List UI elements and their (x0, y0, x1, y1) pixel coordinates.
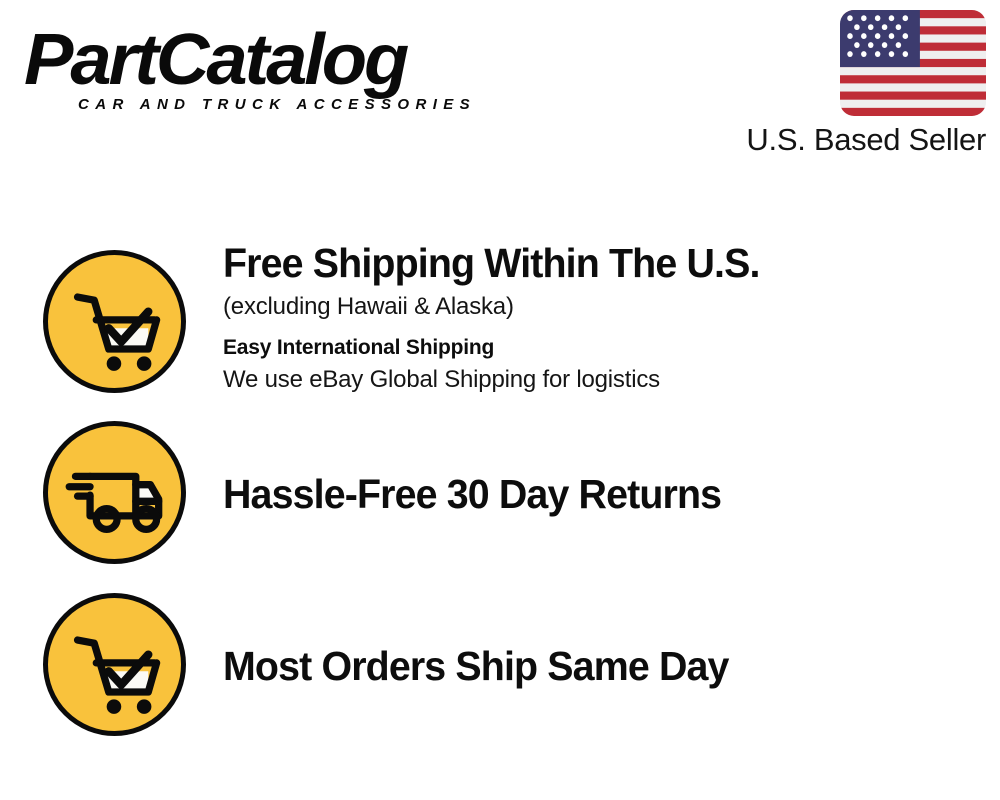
us-flag-icon (840, 10, 986, 116)
us-based-seller-block: U.S. Based Seller (686, 8, 986, 160)
feature-subhead: Easy International Shipping (223, 332, 990, 363)
feature-subline: (excluding Hawaii & Alaska) (223, 290, 990, 323)
cart-check-icon (43, 250, 186, 393)
promo-banner: PartCatalog CAR AND TRUCK ACCESSORIES (0, 0, 1000, 800)
feature-row: Hassle-Free 30 Day Returns (0, 403, 1000, 553)
feature-subhead-note: We use eBay Global Shipping for logistic… (223, 363, 990, 396)
feature-row: Free Shipping Within The U.S. (excluding… (0, 232, 1000, 414)
brand-wordmark: PartCatalog (24, 22, 406, 98)
delivery-truck-icon (43, 421, 186, 564)
cart-check-icon (43, 593, 186, 736)
feature-headline: Most Orders Ship Same Day (223, 641, 959, 691)
us-based-seller-label: U.S. Based Seller (746, 120, 986, 160)
feature-row: Most Orders Ship Same Day (0, 575, 1000, 725)
brand-logo: PartCatalog CAR AND TRUCK ACCESSORIES (24, 22, 494, 117)
feature-text-block: Hassle-Free 30 Day Returns (223, 469, 990, 519)
feature-text-block: Most Orders Ship Same Day (223, 641, 990, 691)
feature-headline: Hassle-Free 30 Day Returns (223, 469, 959, 519)
feature-headline: Free Shipping Within The U.S. (223, 238, 959, 288)
brand-tagline: CAR AND TRUCK ACCESSORIES (78, 96, 476, 113)
feature-text-block: Free Shipping Within The U.S. (excluding… (223, 238, 990, 396)
